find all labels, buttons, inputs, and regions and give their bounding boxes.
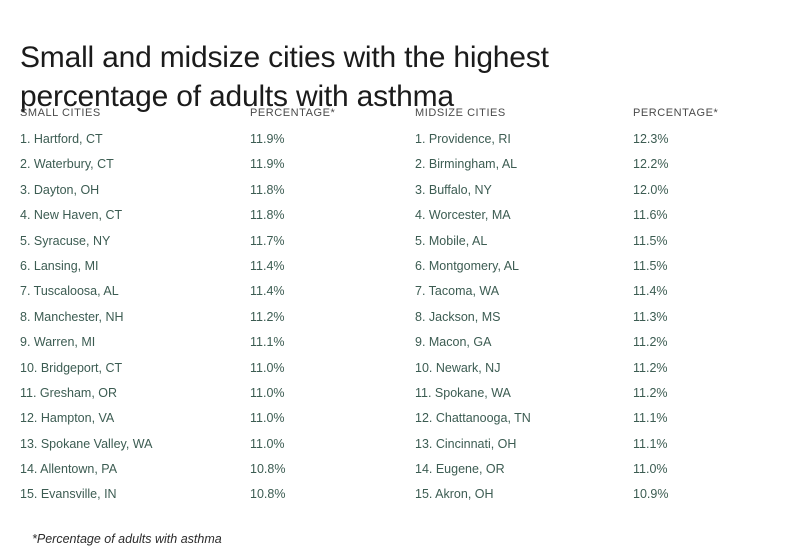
city-name: 8. Jackson, MS (415, 308, 500, 326)
table-row: 10. Newark, NJ11.2% (415, 359, 795, 384)
table-row: 11. Gresham, OR11.0% (20, 384, 400, 409)
city-name: 4. New Haven, CT (20, 206, 122, 224)
midsize-cities-column: MIDSIZE CITIES PERCENTAGE* 1. Providence… (415, 100, 795, 511)
city-name: 7. Tacoma, WA (415, 282, 499, 300)
city-name: 10. Newark, NJ (415, 359, 500, 377)
city-name: 13. Cincinnati, OH (415, 435, 516, 453)
table-row: 9. Macon, GA11.2% (415, 333, 795, 358)
city-name: 12. Chattanooga, TN (415, 409, 531, 427)
percentage-value: 11.0% (250, 409, 285, 427)
table-row: 12. Hampton, VA11.0% (20, 409, 400, 434)
table-row: 10. Bridgeport, CT11.0% (20, 359, 400, 384)
table-row: 13. Spokane Valley, WA11.0% (20, 435, 400, 460)
city-name: 14. Allentown, PA (20, 460, 117, 478)
table-row: 4. Worcester, MA11.6% (415, 206, 795, 231)
infographic-page: Small and midsize cities with the highes… (0, 0, 799, 558)
percentage-value: 11.4% (250, 257, 285, 275)
percentage-value: 11.8% (250, 206, 285, 224)
footnote: *Percentage of adults with asthma (32, 530, 222, 548)
table-row: 14. Allentown, PA10.8% (20, 460, 400, 485)
percentage-value: 10.8% (250, 460, 285, 478)
percentage-value: 12.3% (633, 130, 668, 148)
percentage-value: 11.1% (633, 409, 668, 427)
table-row: 9. Warren, MI11.1% (20, 333, 400, 358)
city-name: 8. Manchester, NH (20, 308, 124, 326)
percentage-value: 12.2% (633, 155, 668, 173)
city-name: 12. Hampton, VA (20, 409, 114, 427)
percentage-value: 11.0% (250, 384, 285, 402)
small-cities-column: SMALL CITIES PERCENTAGE* 1. Hartford, CT… (20, 100, 400, 511)
table-row: 14. Eugene, OR11.0% (415, 460, 795, 485)
table-row: 13. Cincinnati, OH11.1% (415, 435, 795, 460)
table-row: 3. Dayton, OH11.8% (20, 181, 400, 206)
percentage-value: 11.1% (633, 435, 668, 453)
table-row: 2. Birmingham, AL12.2% (415, 155, 795, 180)
table-row: 4. New Haven, CT11.8% (20, 206, 400, 231)
table-row: 15. Evansville, IN10.8% (20, 485, 400, 510)
small-cities-header-row: SMALL CITIES PERCENTAGE* (20, 100, 400, 130)
table-row: 5. Mobile, AL11.5% (415, 232, 795, 257)
city-name: 9. Warren, MI (20, 333, 95, 351)
city-name: 4. Worcester, MA (415, 206, 511, 224)
city-name: 1. Hartford, CT (20, 130, 103, 148)
percentage-value: 11.2% (633, 333, 668, 351)
percentage-value: 11.0% (633, 460, 668, 478)
city-name: 11. Gresham, OR (20, 384, 117, 402)
percentage-value: 11.4% (633, 282, 668, 300)
small-cities-city-header: SMALL CITIES (20, 107, 101, 119)
percentage-value: 11.9% (250, 130, 285, 148)
percentage-value: 12.0% (633, 181, 668, 199)
city-name: 5. Syracuse, NY (20, 232, 110, 250)
city-name: 10. Bridgeport, CT (20, 359, 122, 377)
city-name: 15. Akron, OH (415, 485, 494, 503)
table-row: 11. Spokane, WA11.2% (415, 384, 795, 409)
table-row: 7. Tuscaloosa, AL11.4% (20, 282, 400, 307)
percentage-value: 11.2% (633, 384, 668, 402)
table-row: 1. Providence, RI12.3% (415, 130, 795, 155)
city-name: 2. Birmingham, AL (415, 155, 517, 173)
percentage-value: 11.7% (250, 232, 285, 250)
percentage-value: 11.5% (633, 257, 668, 275)
percentage-value: 11.0% (250, 359, 285, 377)
city-name: 7. Tuscaloosa, AL (20, 282, 119, 300)
percentage-value: 11.4% (250, 282, 285, 300)
table-row: 12. Chattanooga, TN11.1% (415, 409, 795, 434)
city-name: 6. Montgomery, AL (415, 257, 519, 275)
table-row: 5. Syracuse, NY11.7% (20, 232, 400, 257)
table-row: 2. Waterbury, CT11.9% (20, 155, 400, 180)
percentage-value: 11.9% (250, 155, 285, 173)
small-cities-percentage-header: PERCENTAGE* (250, 107, 335, 119)
city-name: 1. Providence, RI (415, 130, 511, 148)
city-name: 11. Spokane, WA (415, 384, 511, 402)
small-cities-rows: 1. Hartford, CT11.9%2. Waterbury, CT11.9… (20, 130, 400, 511)
table-row: 15. Akron, OH10.9% (415, 485, 795, 510)
city-name: 5. Mobile, AL (415, 232, 487, 250)
table-row: 6. Lansing, MI11.4% (20, 257, 400, 282)
percentage-value: 11.6% (633, 206, 668, 224)
city-name: 15. Evansville, IN (20, 485, 117, 503)
midsize-cities-percentage-header: PERCENTAGE* (633, 107, 718, 119)
city-name: 6. Lansing, MI (20, 257, 99, 275)
table-row: 8. Manchester, NH11.2% (20, 308, 400, 333)
city-name: 2. Waterbury, CT (20, 155, 114, 173)
percentage-value: 10.9% (633, 485, 668, 503)
city-name: 3. Dayton, OH (20, 181, 99, 199)
table-row: 8. Jackson, MS11.3% (415, 308, 795, 333)
city-name: 3. Buffalo, NY (415, 181, 492, 199)
table-row: 7. Tacoma, WA11.4% (415, 282, 795, 307)
midsize-cities-city-header: MIDSIZE CITIES (415, 107, 506, 119)
percentage-value: 11.2% (250, 308, 285, 326)
midsize-cities-header-row: MIDSIZE CITIES PERCENTAGE* (415, 100, 795, 130)
percentage-value: 11.8% (250, 181, 285, 199)
percentage-value: 11.1% (250, 333, 285, 351)
city-name: 13. Spokane Valley, WA (20, 435, 152, 453)
percentage-value: 11.2% (633, 359, 668, 377)
percentage-value: 10.8% (250, 485, 285, 503)
city-name: 14. Eugene, OR (415, 460, 505, 478)
table-row: 3. Buffalo, NY12.0% (415, 181, 795, 206)
percentage-value: 11.0% (250, 435, 285, 453)
table-row: 6. Montgomery, AL11.5% (415, 257, 795, 282)
percentage-value: 11.3% (633, 308, 668, 326)
percentage-value: 11.5% (633, 232, 668, 250)
city-name: 9. Macon, GA (415, 333, 491, 351)
table-row: 1. Hartford, CT11.9% (20, 130, 400, 155)
midsize-cities-rows: 1. Providence, RI12.3%2. Birmingham, AL1… (415, 130, 795, 511)
